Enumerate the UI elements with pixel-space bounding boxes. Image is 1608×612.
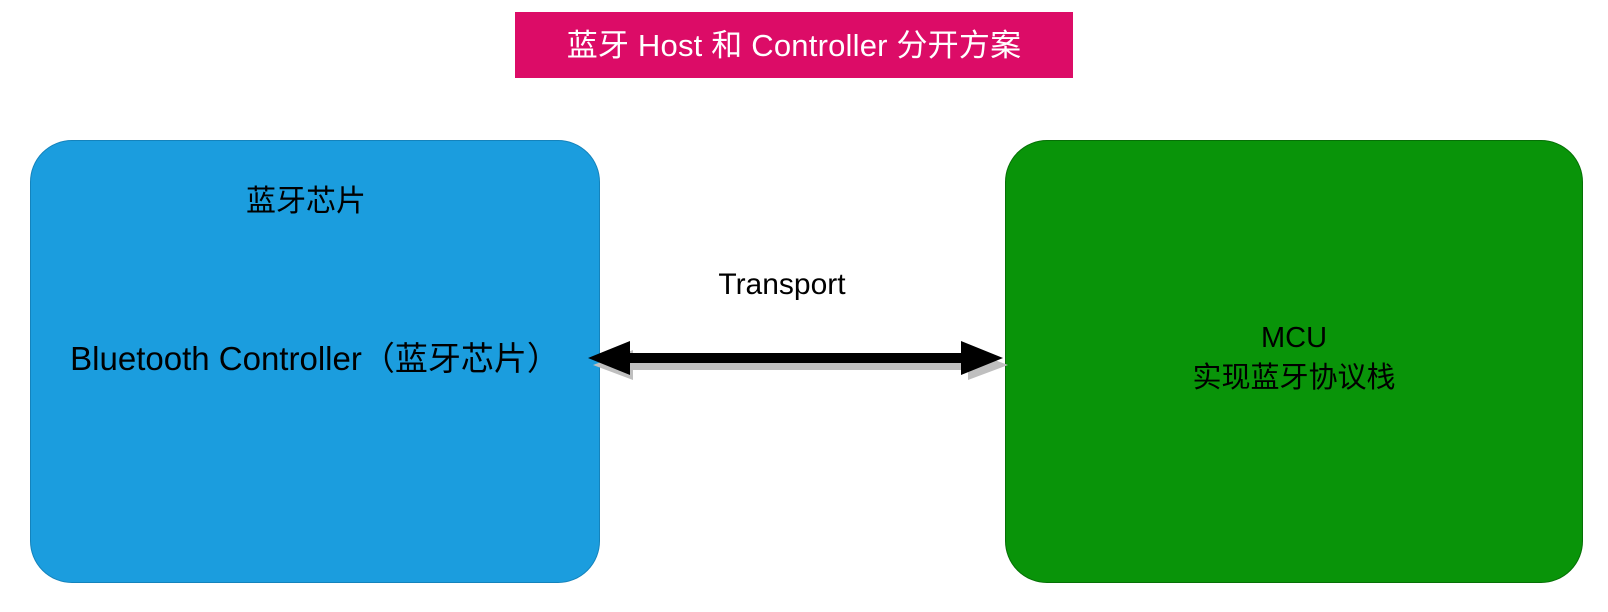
node-bluetooth-chip-heading: 蓝牙芯片: [31, 187, 581, 217]
diagram-canvas: 蓝牙 Host 和 Controller 分开方案 蓝牙芯片 Bluetooth…: [0, 0, 1608, 612]
node-bluetooth-chip-label: Bluetooth Controller（蓝牙芯片）: [31, 342, 599, 375]
node-bluetooth-chip[interactable]: 蓝牙芯片 Bluetooth Controller（蓝牙芯片）: [30, 140, 600, 583]
connector-transport-arrow[interactable]: [588, 330, 1008, 388]
node-mcu-label-line1: MCU: [1006, 318, 1582, 358]
node-mcu[interactable]: MCU 实现蓝牙协议栈: [1005, 140, 1583, 583]
diagram-title-text: 蓝牙 Host 和 Controller 分开方案: [567, 30, 1022, 61]
node-mcu-label: MCU 实现蓝牙协议栈: [1006, 318, 1582, 398]
node-mcu-label-line2: 实现蓝牙协议栈: [1006, 358, 1582, 398]
diagram-title-banner: 蓝牙 Host 和 Controller 分开方案: [515, 12, 1073, 78]
connector-label-transport: Transport: [660, 270, 904, 300]
double-arrow-icon: [588, 330, 1008, 388]
